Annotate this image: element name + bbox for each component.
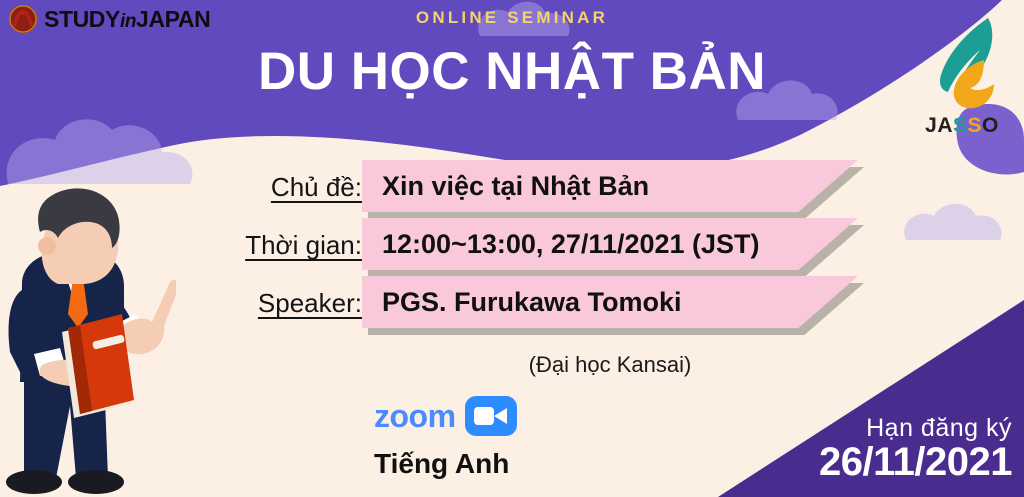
row-speaker-value: PGS. Furukawa Tomoki <box>362 287 682 318</box>
jasso-letter-j: J <box>925 114 937 137</box>
zoom-wordmark: zoom <box>374 400 456 432</box>
speaker-affiliation: (Đại học Kansai) <box>362 352 858 378</box>
row-speaker-band-fill: PGS. Furukawa Tomoki <box>362 276 858 328</box>
zoom-camera-body <box>474 407 494 425</box>
page-title: DU HỌC NHẬT BẢN <box>0 44 1024 100</box>
jasso-letter-s1: S <box>953 114 968 137</box>
zoom-logo: zoom <box>374 396 517 436</box>
jasso-logo: JASSO <box>910 14 1014 134</box>
deadline-date: 26/11/2021 <box>819 441 1012 483</box>
jasso-wing-icon <box>910 14 1014 114</box>
deadline-label: Hạn đăng ký <box>819 415 1012 441</box>
row-speaker-band: PGS. Furukawa Tomoki <box>362 276 858 328</box>
kicker-text: ONLINE SEMINAR <box>0 8 1024 28</box>
row-language-value: Tiếng Anh <box>374 448 509 480</box>
zoom-camera-lens <box>494 408 507 424</box>
jasso-letter-a: A <box>937 114 953 137</box>
row-time-label: Thời gian: <box>245 230 362 261</box>
jasso-letter-s2: S <box>968 114 983 137</box>
row-time-band-fill: 12:00~13:00, 27/11/2021 (JST) <box>362 218 858 270</box>
row-topic-label: Chủ đề: <box>271 172 362 203</box>
registration-deadline: Hạn đăng ký 26/11/2021 <box>819 415 1012 483</box>
jasso-wordmark: JASSO <box>910 115 1014 136</box>
businessman-pointing-illustration <box>0 186 176 497</box>
seminar-poster: STUDYinJAPAN ONLINE SEMINAR DU HỌC NHẬT … <box>0 0 1024 497</box>
row-speaker-label: Speaker: <box>258 288 362 319</box>
row-topic-band-fill: Xin việc tại Nhật Bản <box>362 160 858 212</box>
row-time-value: 12:00~13:00, 27/11/2021 (JST) <box>362 229 760 260</box>
zoom-camera-icon <box>465 396 517 436</box>
row-topic-value: Xin việc tại Nhật Bản <box>362 171 649 202</box>
row-topic-band: Xin việc tại Nhật Bản <box>362 160 858 212</box>
row-time-band: 12:00~13:00, 27/11/2021 (JST) <box>362 218 858 270</box>
jasso-letter-o: O <box>982 114 999 137</box>
